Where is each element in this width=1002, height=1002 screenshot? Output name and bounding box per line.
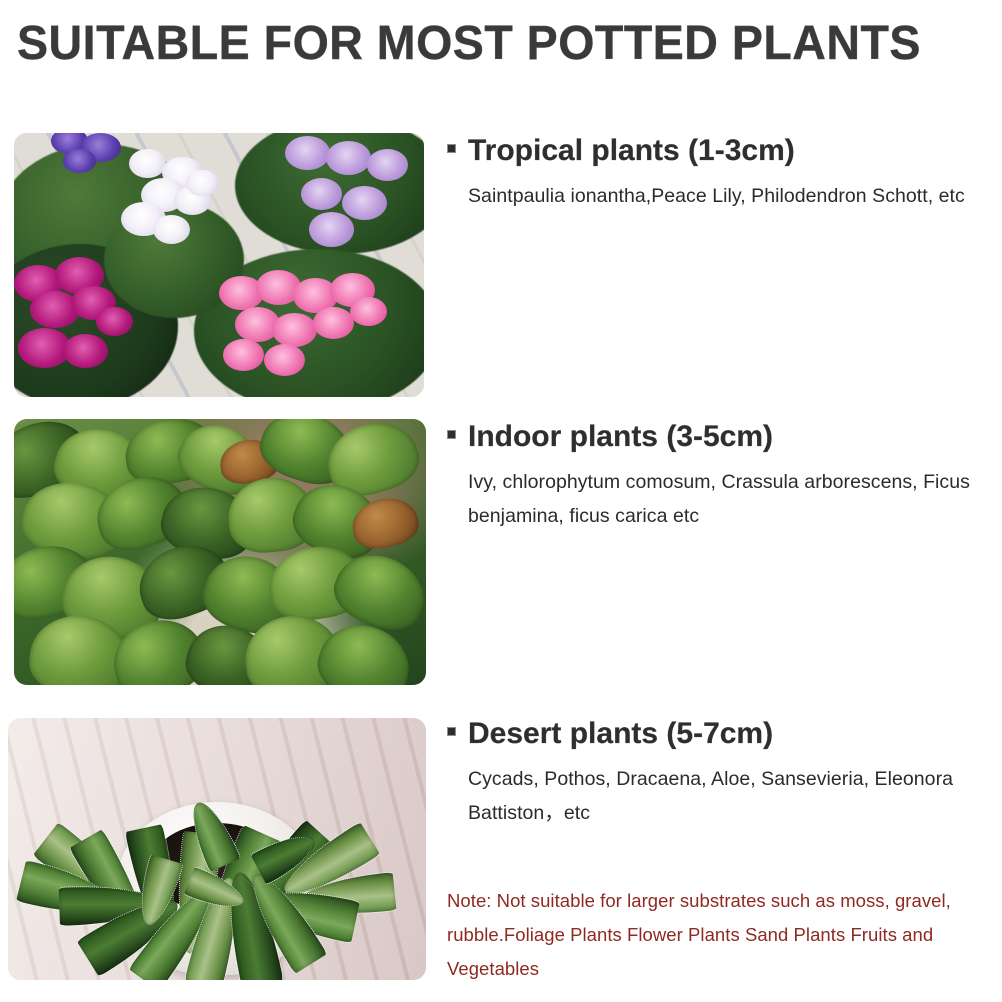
heading-label: Desert plants (5-7cm) <box>468 716 773 752</box>
heading-desert-plants: Desert plants (5-7cm) <box>447 716 995 752</box>
section-indoor-plants: Indoor plants (3-5cm) Ivy, chlorophytum … <box>0 419 1002 685</box>
heading-label: Indoor plants (3-5cm) <box>468 419 773 455</box>
page-title: SUITABLE FOR MOST POTTED PLANTS <box>17 18 921 70</box>
square-bullet-icon <box>447 144 456 153</box>
photo-aloe-vera <box>8 718 426 980</box>
text-block-tropical: Tropical plants (1-3cm) Saintpaulia iona… <box>447 133 995 213</box>
heading-tropical-plants: Tropical plants (1-3cm) <box>447 133 995 169</box>
text-block-indoor: Indoor plants (3-5cm) Ivy, chlorophytum … <box>447 419 995 533</box>
heading-indoor-plants: Indoor plants (3-5cm) <box>447 419 995 455</box>
square-bullet-icon <box>447 430 456 439</box>
photo-green-succulent <box>14 419 426 685</box>
text-block-desert: Desert plants (5-7cm) Cycads, Pothos, Dr… <box>447 716 995 830</box>
note-text: Note: Not suitable for larger substrates… <box>447 884 999 986</box>
square-bullet-icon <box>447 727 456 736</box>
heading-label: Tropical plants (1-3cm) <box>468 133 795 169</box>
section-tropical-plants: Tropical plants (1-3cm) Saintpaulia iona… <box>0 133 1002 399</box>
photo-african-violets <box>14 133 424 397</box>
examples-tropical-plants: Saintpaulia ionantha,Peace Lily, Philode… <box>468 179 995 213</box>
examples-indoor-plants: Ivy, chlorophytum comosum, Crassula arbo… <box>468 465 995 533</box>
examples-desert-plants: Cycads, Pothos, Dracaena, Aloe, Sansevie… <box>468 762 995 830</box>
